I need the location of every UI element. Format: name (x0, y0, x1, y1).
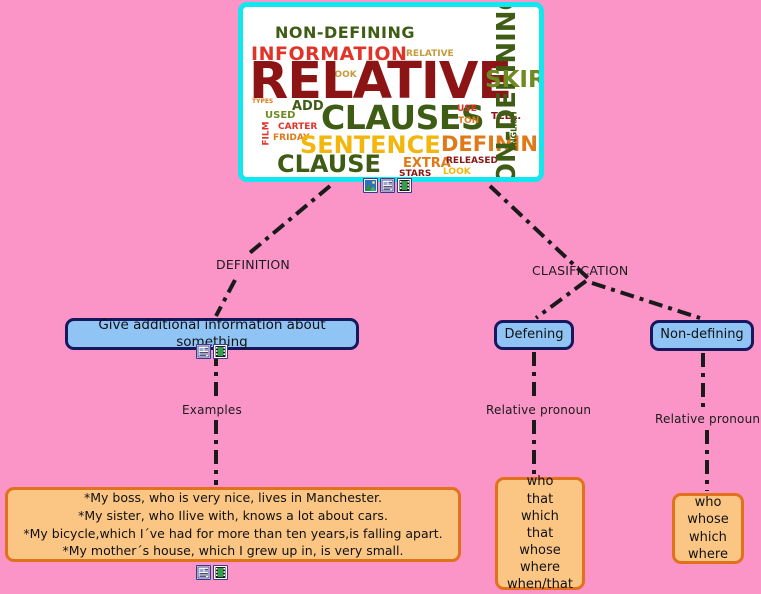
example-line-3: *My bicycle,which I´ve had for more than… (23, 526, 442, 541)
node-pronouns-nondefining[interactable]: who whose which where (672, 493, 744, 564)
attachment-icons-definition[interactable] (196, 344, 228, 359)
node-defining[interactable]: Defening (494, 320, 574, 350)
note-icon[interactable] (196, 344, 211, 359)
pronoun-item: who (527, 474, 554, 489)
pronoun-item: which (521, 509, 559, 524)
pronoun-item: whose (519, 543, 561, 558)
pronoun-item: that (527, 492, 553, 507)
note-icon[interactable] (196, 565, 211, 580)
edge-label-relative-pronoun-left: Relative pronoun (486, 403, 591, 417)
pronoun-item: where (688, 547, 728, 562)
pronoun-item: where (520, 560, 560, 575)
example-line-4: *My mother´s house, which I grew up in, … (62, 543, 403, 558)
wc-word-skirt: SKIRT (485, 69, 544, 92)
wc-word-ton: TON (458, 117, 479, 126)
edge-label-examples: Examples (182, 403, 242, 417)
film-icon[interactable] (213, 565, 228, 580)
wc-word-non-defining-top: NON-DEFINING (275, 25, 415, 41)
node-pronouns-nondefining-text: who whose which where (687, 494, 729, 563)
example-line-1: *My boss, who is very nice, lives in Man… (84, 490, 382, 505)
pronoun-item: that (527, 526, 553, 541)
pronoun-item: who (695, 495, 722, 510)
wc-word-stars: LOOK (443, 168, 471, 177)
wc-word-types: TYPES (252, 99, 273, 105)
edge-center-to-definition (246, 186, 330, 256)
wc-word-add: ADD (292, 100, 324, 113)
film-icon[interactable] (213, 344, 228, 359)
edge-definition-to-left-node (216, 280, 235, 316)
node-defining-label: Defening (505, 327, 564, 343)
pronoun-item: whose (687, 512, 729, 527)
node-pronouns-defining[interactable]: who that which that whose where when/tha… (495, 477, 585, 590)
wc-word-used: USED (265, 111, 295, 121)
node-examples-text: *My boss, who is very nice, lives in Man… (23, 489, 442, 560)
image-icon[interactable] (363, 178, 378, 193)
word-cloud-image: NON-DEFINING INFORMATION RELATIVE LOOK R… (243, 7, 539, 177)
wc-word-film: FILM (263, 121, 272, 145)
wc-word-meaning: RELEASED (446, 157, 498, 166)
pronoun-item: which (689, 530, 727, 545)
edge-clasification-to-nondefining (592, 283, 700, 318)
edge-label-relative-pronoun-right: Relative pronoun (655, 412, 760, 426)
edge-label-definition: DEFINITION (216, 257, 290, 272)
edge-label-clasification: CLASIFICATION (532, 263, 628, 278)
attachment-icons-central[interactable] (363, 178, 412, 193)
film-icon[interactable] (397, 178, 412, 193)
edge-clasification-to-defining (536, 281, 586, 318)
note-icon[interactable] (380, 178, 395, 193)
node-nondefining-label: Non-defining (660, 327, 743, 343)
node-nondefining[interactable]: Non-defining (650, 320, 754, 351)
example-line-2: *My sister, who Ilive with, knows a lot … (78, 508, 388, 523)
pronoun-item: when/that (507, 577, 573, 592)
mindmap-canvas: NON-DEFINING INFORMATION RELATIVE LOOK R… (0, 0, 761, 592)
wc-word-clause: CLAUSE (277, 152, 381, 176)
wc-word-use: USE (457, 105, 477, 114)
central-image-node[interactable]: NON-DEFINING INFORMATION RELATIVE LOOK R… (238, 2, 544, 182)
node-examples[interactable]: *My boss, who is very nice, lives in Man… (5, 487, 461, 562)
node-pronouns-defining-text: who that which that whose where when/tha… (507, 473, 573, 593)
attachment-icons-examples[interactable] (196, 565, 228, 580)
